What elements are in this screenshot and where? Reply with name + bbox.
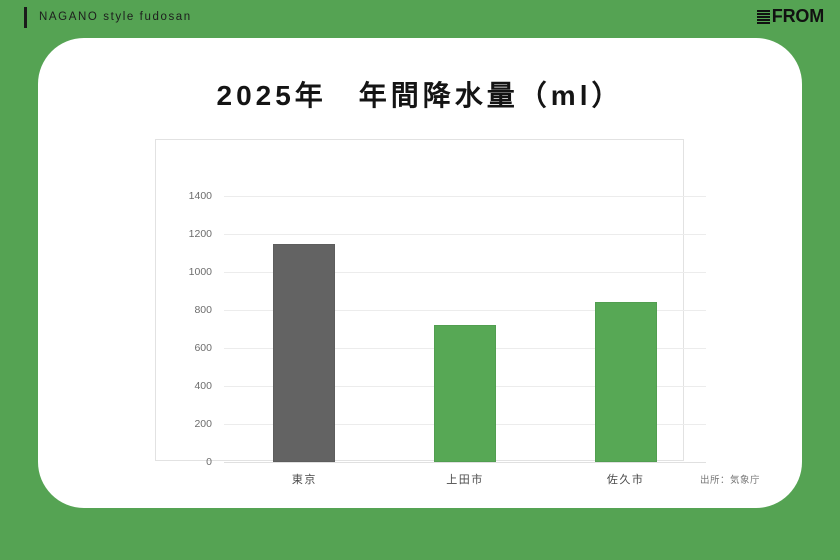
gridline <box>224 234 706 235</box>
source-note: 出所：気象庁 <box>700 472 760 486</box>
chart-panel: 0200400600800100012001400東京上田市佐久市 <box>155 139 684 461</box>
bar-佐久市 <box>595 302 657 462</box>
slide-header: NAGANO style fudosan FROM <box>0 0 840 38</box>
brand-accent-rule <box>24 7 27 28</box>
y-axis-tick-label: 600 <box>156 343 212 354</box>
y-axis-tick-label: 800 <box>156 305 212 316</box>
slide-root: NAGANO style fudosan FROM 2025年 年間降水量（ml… <box>0 0 840 560</box>
y-axis-tick-label: 200 <box>156 419 212 430</box>
gridline <box>224 462 706 463</box>
brand: NAGANO style fudosan <box>24 6 192 28</box>
bar-chart: 0200400600800100012001400東京上田市佐久市 <box>156 140 685 462</box>
logo-label: FROM <box>772 6 824 27</box>
bar-上田市 <box>434 325 496 462</box>
y-axis-tick-label: 0 <box>156 457 212 468</box>
y-axis-tick-label: 400 <box>156 381 212 392</box>
y-axis-tick-label: 1000 <box>156 267 212 278</box>
hamburger-lines-icon <box>757 10 770 24</box>
x-axis-tick-label: 東京 <box>249 471 359 487</box>
x-axis-tick-label: 上田市 <box>410 471 520 487</box>
bar-東京 <box>273 244 335 463</box>
x-axis-tick-label: 佐久市 <box>571 471 681 487</box>
content-card: 2025年 年間降水量（ml） 020040060080010001200140… <box>38 38 802 508</box>
from-logo: FROM <box>757 6 824 27</box>
y-axis-tick-label: 1200 <box>156 229 212 240</box>
gridline <box>224 196 706 197</box>
brand-label: NAGANO style fudosan <box>39 11 192 23</box>
y-axis-tick-label: 1400 <box>156 191 212 202</box>
page-title: 2025年 年間降水量（ml） <box>38 74 802 114</box>
